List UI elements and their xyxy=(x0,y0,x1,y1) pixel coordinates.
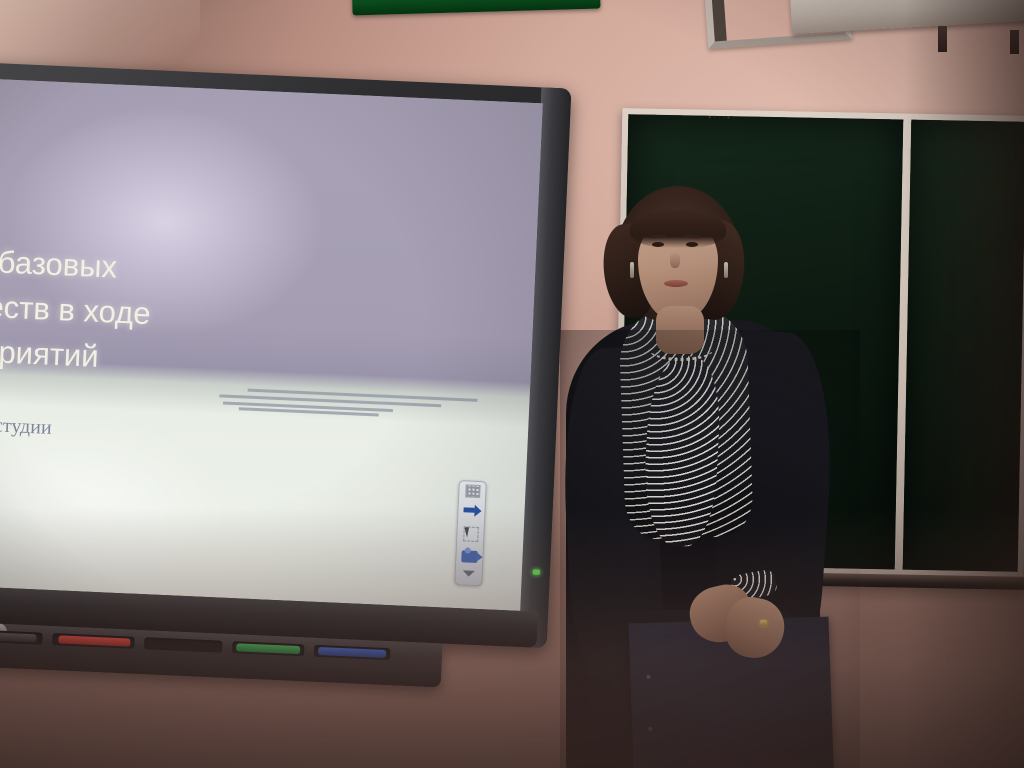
drop-earring-right xyxy=(724,262,728,278)
eye-right xyxy=(686,242,698,247)
drag-grip-icon[interactable] xyxy=(465,484,481,498)
eye-left xyxy=(652,242,664,247)
mouth xyxy=(664,280,688,287)
pearl-necklace xyxy=(648,336,714,361)
frame-inner-panel xyxy=(711,0,726,41)
wall-floor-shadow xyxy=(0,508,1024,768)
drop-earring-left xyxy=(630,262,634,278)
hair-fringe xyxy=(630,210,726,248)
photo-scene: •···•· мирование базовых остных качеств … xyxy=(0,0,1024,768)
nose xyxy=(670,252,680,268)
slide-title: мирование базовых остных качеств в ходе … xyxy=(0,232,392,392)
chalkboard-faint-marks: •···•· xyxy=(708,113,778,123)
